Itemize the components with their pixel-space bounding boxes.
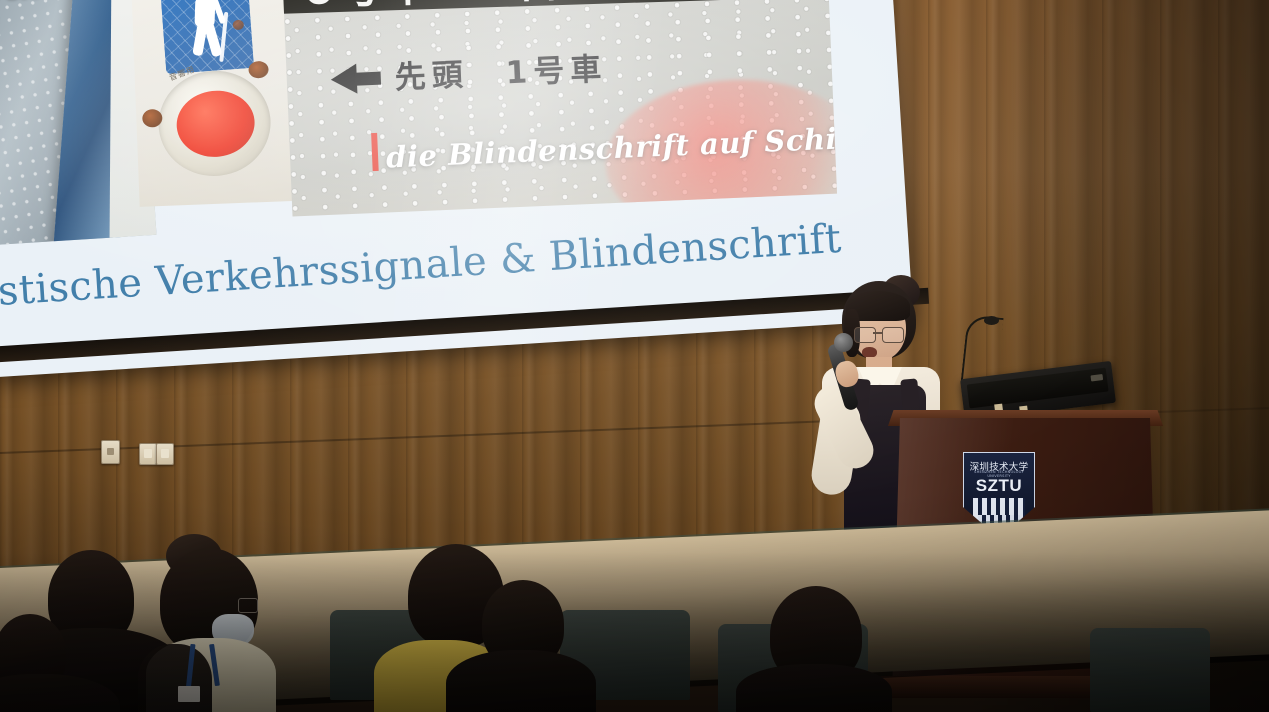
scene-vignette: [0, 0, 1269, 712]
lecture-hall-photo: iert sich bel 音響用: [0, 0, 1269, 712]
